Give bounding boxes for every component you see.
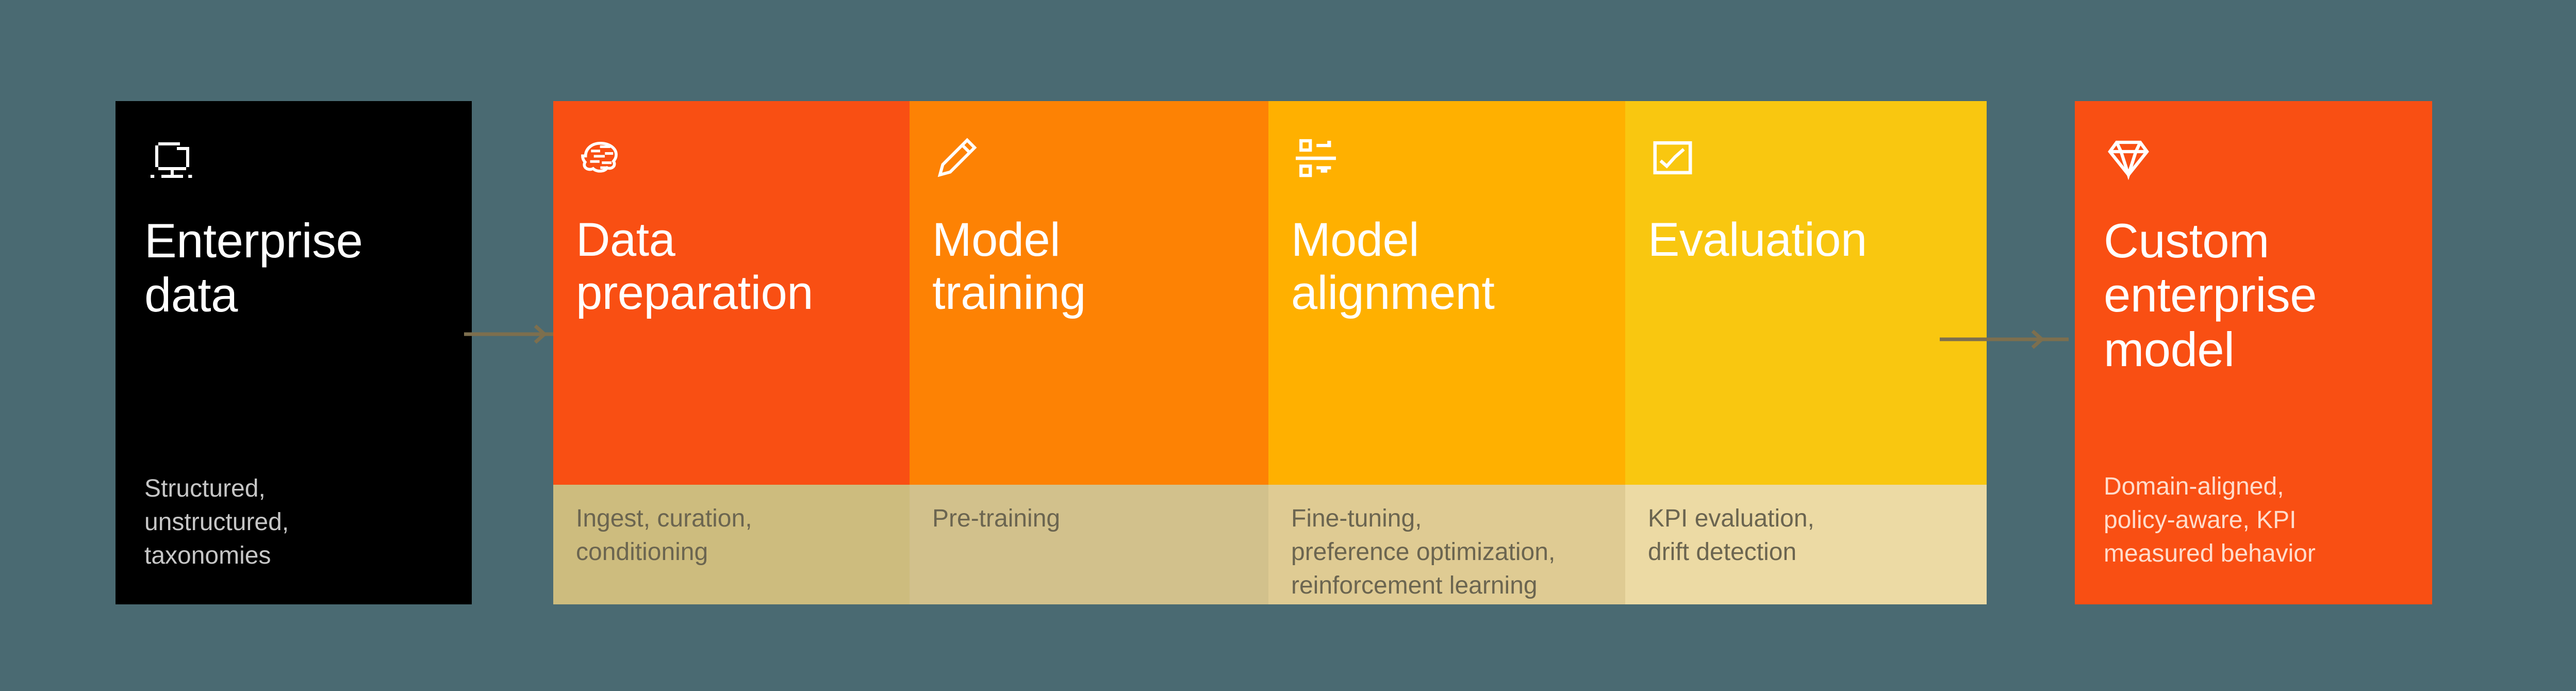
stage-evaluation-caption: KPI evaluation, drift detection bbox=[1648, 502, 1966, 569]
stage-data-preparation-top: Data preparation bbox=[553, 101, 910, 485]
stage-data-preparation-caption: Ingest, curation, conditioning bbox=[576, 502, 889, 569]
stage-data-preparation-footer: Ingest, curation, conditioning bbox=[553, 485, 910, 604]
chart-evaluation-icon bbox=[1648, 133, 1697, 183]
stage-evaluation-footer: KPI evaluation, drift detection bbox=[1625, 485, 1987, 604]
stage-evaluation-top: Evaluation bbox=[1625, 101, 1987, 485]
gem-icon bbox=[2104, 133, 2153, 183]
tuning-parameters-icon bbox=[1291, 133, 1341, 183]
stage-model-training-caption: Pre-training bbox=[932, 502, 1248, 536]
enterprise-data-body: Enterprise data bbox=[115, 101, 472, 322]
enterprise-data-title: Enterprise data bbox=[144, 213, 443, 322]
custom-enterprise-model-card: Custom enterprise model Domain-aligned, … bbox=[2075, 101, 2432, 604]
brain-icon bbox=[576, 133, 625, 183]
stage-model-alignment-footer: Fine-tuning, preference optimization, re… bbox=[1268, 485, 1625, 604]
stage-model-training-title: Model training bbox=[932, 213, 1248, 320]
diagram-canvas: Enterprise data Structured, unstructured… bbox=[0, 0, 2576, 691]
stage-model-training-top: Model training bbox=[910, 101, 1268, 485]
stage-data-preparation-title: Data preparation bbox=[576, 213, 889, 320]
pipeline-group: Data preparation Ingest, curation, condi… bbox=[553, 101, 1987, 604]
pipeline-stage-model-training[interactable]: Model training Pre-training bbox=[910, 101, 1268, 604]
stage-model-alignment-top: Model alignment bbox=[1268, 101, 1625, 485]
stage-model-training-footer: Pre-training bbox=[910, 485, 1268, 604]
custom-enterprise-model-body: Custom enterprise model bbox=[2075, 101, 2432, 376]
pipeline-stage-model-alignment[interactable]: Model alignment Fine-tuning, preference … bbox=[1268, 101, 1625, 604]
stage-evaluation-title: Evaluation bbox=[1648, 213, 1966, 267]
enterprise-data-card: Enterprise data Structured, unstructured… bbox=[115, 101, 472, 604]
enterprise-data-subtitle: Structured, unstructured, taxonomies bbox=[144, 472, 451, 572]
pipeline-stage-data-preparation[interactable]: Data preparation Ingest, curation, condi… bbox=[553, 101, 910, 604]
arrow-pipeline-to-result bbox=[1940, 316, 2075, 357]
stage-model-alignment-caption: Fine-tuning, preference optimization, re… bbox=[1291, 502, 1605, 602]
custom-enterprise-model-title: Custom enterprise model bbox=[2104, 213, 2403, 376]
pipeline-stage-evaluation[interactable]: Evaluation KPI evaluation, drift detecti… bbox=[1625, 101, 1987, 604]
custom-enterprise-model-subtitle: Domain-aligned, policy-aware, KPI measur… bbox=[2104, 470, 2414, 570]
pencil-icon bbox=[932, 133, 982, 183]
monitor-data-icon bbox=[144, 133, 194, 183]
stage-model-alignment-title: Model alignment bbox=[1291, 213, 1605, 320]
